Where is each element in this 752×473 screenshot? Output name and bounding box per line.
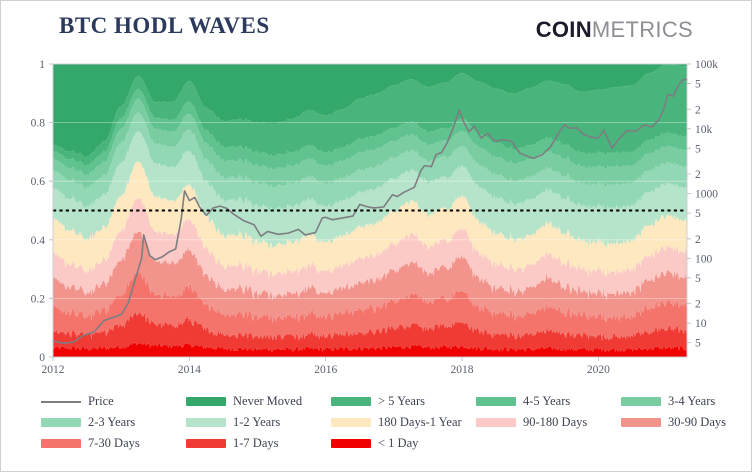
legend-item-1-day[interactable]: < 1 Day <box>331 436 476 451</box>
legend-item-30-90-days[interactable]: 30-90 Days <box>621 415 752 430</box>
y-tick-label-left: 0.2 <box>31 293 46 305</box>
y-tick-label-right: 5 <box>695 273 701 285</box>
legend-item-1-2-years[interactable]: 1-2 Years <box>186 415 331 430</box>
y-axis-right: 100k5210k5210005210052105 <box>687 59 718 350</box>
y-tick-label-right: 5 <box>695 208 701 220</box>
legend-label: 1-7 Days <box>233 436 278 451</box>
y-tick-label-right: 100k <box>695 59 718 71</box>
y-tick-label-right: 10k <box>695 124 713 136</box>
y-tick-label-left: 0 <box>39 352 45 364</box>
y-axis-left: 00.20.40.60.81 <box>31 59 53 364</box>
legend-label: 2-3 Years <box>88 415 135 430</box>
y-tick-label-right: 5 <box>695 79 701 91</box>
legend-label: Price <box>88 394 114 409</box>
legend-color-swatch <box>186 397 226 406</box>
legend-label: 180 Days-1 Year <box>378 415 462 430</box>
legend-label: 90-180 Days <box>523 415 587 430</box>
chart-figure: BTC HODL WAVES COINMETRICS 00.20.40.60.8… <box>0 0 752 472</box>
y-tick-label-right: 2 <box>695 234 701 246</box>
chart-legend: PriceNever Moved> 5 Years4-5 Years3-4 Ye… <box>1 391 752 473</box>
y-tick-label-right: 100 <box>695 253 713 265</box>
legend-color-swatch <box>331 418 371 427</box>
legend-item-90-180-days[interactable]: 90-180 Days <box>476 415 621 430</box>
x-tick-label: 2020 <box>587 364 610 376</box>
legend-color-swatch <box>476 418 516 427</box>
legend-item-price[interactable]: Price <box>41 394 186 409</box>
legend-color-swatch <box>186 418 226 427</box>
legend-item-never-moved[interactable]: Never Moved <box>186 394 331 409</box>
y-tick-label-left: 0.8 <box>31 118 46 130</box>
legend-item-7-30-days[interactable]: 7-30 Days <box>41 436 186 451</box>
x-axis: 20122014201620182020 <box>42 357 611 376</box>
legend-line-swatch <box>41 401 81 403</box>
y-tick-label-right: 2 <box>695 104 701 116</box>
legend-label: 3-4 Years <box>668 394 715 409</box>
legend-label: Never Moved <box>233 394 302 409</box>
y-tick-label-right: 2 <box>695 299 701 311</box>
y-tick-label-left: 1 <box>39 59 45 71</box>
legend-color-swatch <box>41 418 81 427</box>
legend-color-swatch <box>476 397 516 406</box>
x-tick-label: 2012 <box>42 364 65 376</box>
x-tick-label: 2014 <box>178 364 201 376</box>
x-tick-label: 2016 <box>314 364 337 376</box>
y-tick-label-right: 1000 <box>695 189 718 201</box>
y-tick-label-right: 5 <box>695 338 701 350</box>
y-tick-label-left: 0.6 <box>31 176 46 188</box>
hodl-waves-chart: 00.20.40.60.81100k5210k52100052100521052… <box>1 1 752 391</box>
legend-item-2-3-years[interactable]: 2-3 Years <box>41 415 186 430</box>
legend-label: > 5 Years <box>378 394 425 409</box>
legend-label: 4-5 Years <box>523 394 570 409</box>
legend-row: 7-30 Days1-7 Days< 1 Day <box>1 433 752 454</box>
legend-label: 7-30 Days <box>88 436 140 451</box>
y-tick-label-left: 0.4 <box>31 235 46 247</box>
x-tick-label: 2018 <box>451 364 474 376</box>
legend-color-swatch <box>41 439 81 448</box>
y-tick-label-right: 10 <box>695 318 707 330</box>
plot-area: 00.20.40.60.81100k5210k52100052100521052… <box>1 1 752 391</box>
legend-color-swatch <box>186 439 226 448</box>
legend-label: 30-90 Days <box>668 415 726 430</box>
legend-item-1-7-days[interactable]: 1-7 Days <box>186 436 331 451</box>
legend-item-4-5-years[interactable]: 4-5 Years <box>476 394 621 409</box>
y-tick-label-right: 2 <box>695 169 701 181</box>
legend-item-3-4-years[interactable]: 3-4 Years <box>621 394 752 409</box>
legend-item-180-days-1-year[interactable]: 180 Days-1 Year <box>331 415 476 430</box>
legend-color-swatch <box>621 418 661 427</box>
legend-label: 1-2 Years <box>233 415 280 430</box>
legend-item-5-years[interactable]: > 5 Years <box>331 394 476 409</box>
legend-color-swatch <box>621 397 661 406</box>
legend-color-swatch <box>331 439 371 448</box>
legend-row: 2-3 Years1-2 Years180 Days-1 Year90-180 … <box>1 412 752 433</box>
legend-color-swatch <box>331 397 371 406</box>
legend-row: PriceNever Moved> 5 Years4-5 Years3-4 Ye… <box>1 391 752 412</box>
legend-label: < 1 Day <box>378 436 418 451</box>
y-tick-label-right: 5 <box>695 143 701 155</box>
